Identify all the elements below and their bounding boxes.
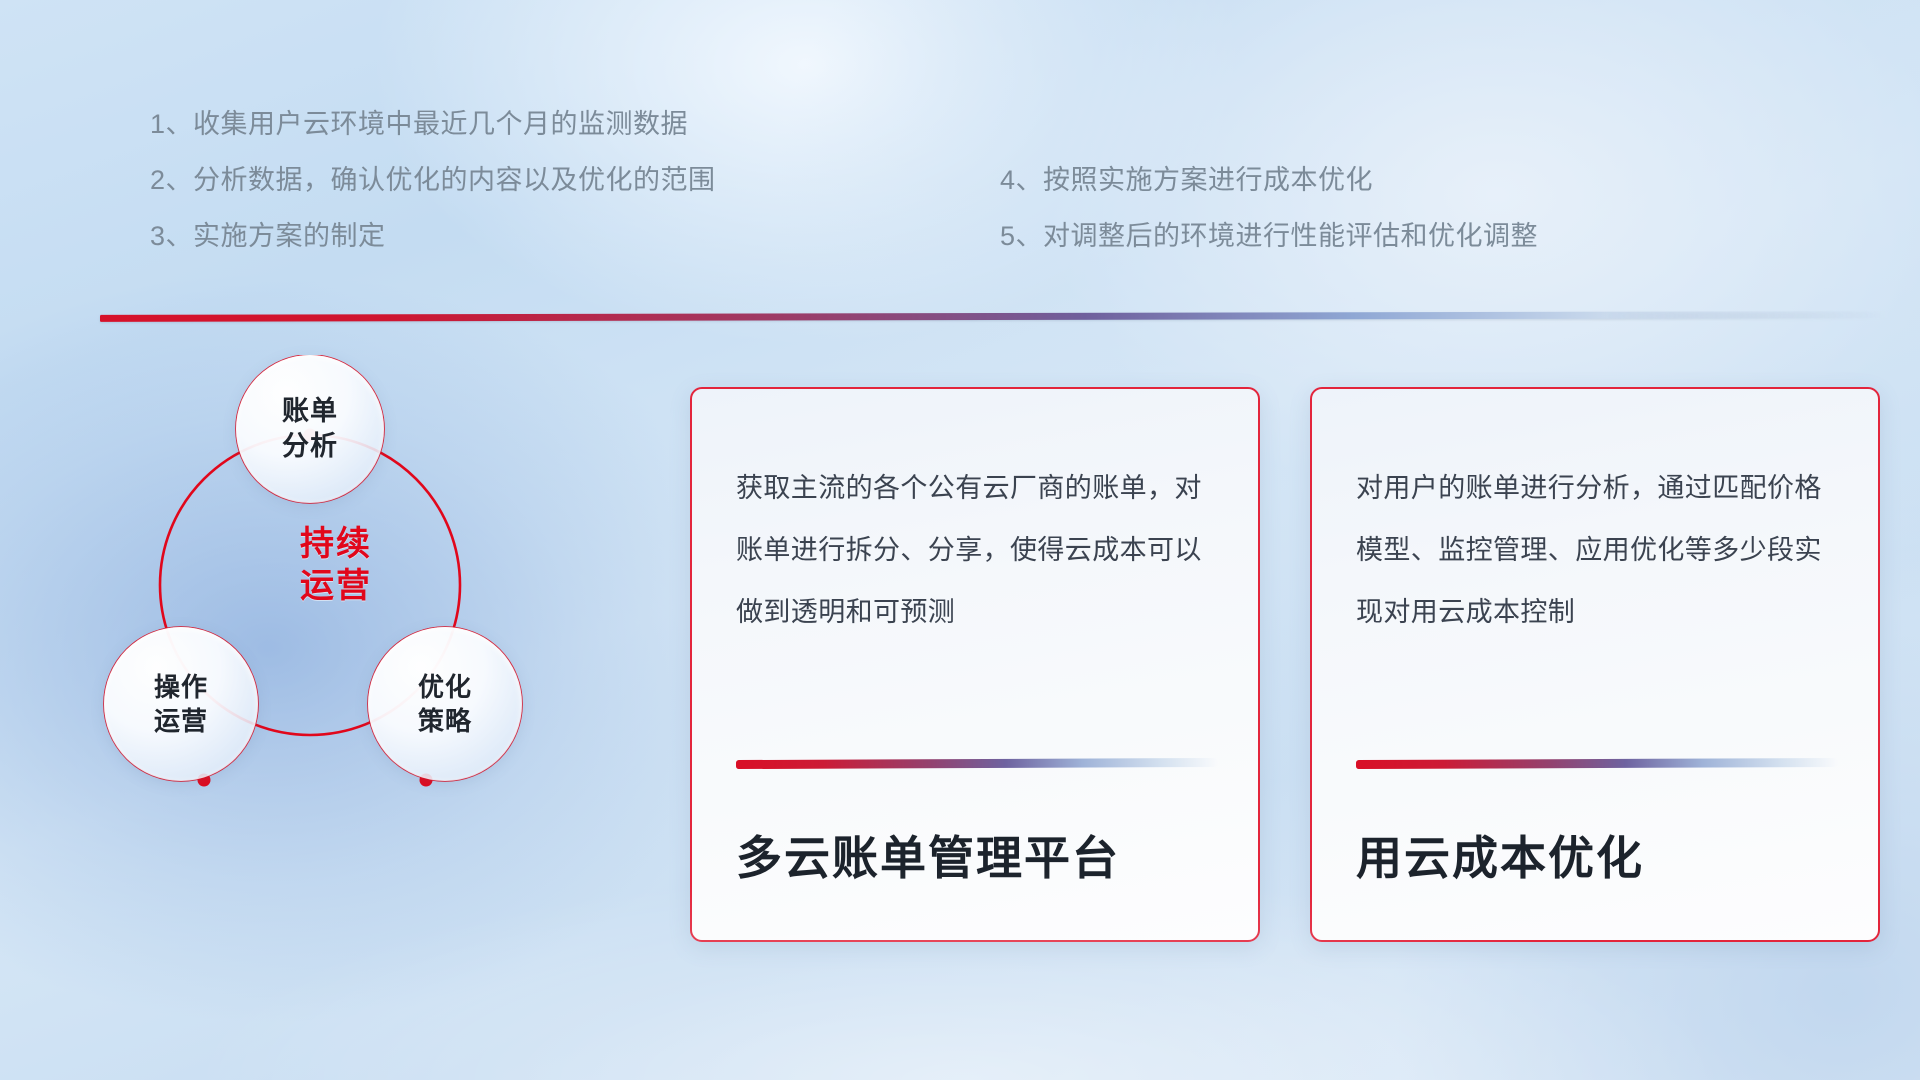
bullet-item-2: 2、分析数据，确认优化的内容以及优化的范围: [150, 152, 716, 208]
venn-bubble-operation[interactable]: 操作 运营: [104, 627, 258, 781]
venn-diagram: 账单 分析 操作 运营 优化 策略 持续 运营: [96, 355, 636, 915]
bullet-item-4: 4、按照实施方案进行成本优化: [1000, 152, 1538, 208]
venn-center-label: 持续 运营: [246, 523, 426, 607]
bullet-list-left: 1、收集用户云环境中最近几个月的监测数据 2、分析数据，确认优化的内容以及优化的…: [150, 96, 716, 264]
card-multicloud-billing[interactable]: 获取主流的各个公有云厂商的账单，对账单进行拆分、分享，使得云成本可以做到透明和可…: [690, 387, 1260, 942]
card-divider-rule: [1356, 758, 1838, 769]
venn-bubble-label-line2: 策略: [418, 704, 472, 738]
card-body-text: 获取主流的各个公有云厂商的账单，对账单进行拆分、分享，使得云成本可以做到透明和可…: [736, 457, 1214, 643]
venn-bubble-bill-analysis[interactable]: 账单 分析: [236, 355, 384, 503]
venn-bubble-label-line1: 操作: [154, 670, 208, 704]
card-body-text: 对用户的账单进行分析，通过匹配价格模型、监控管理、应用优化等多少段实现对用云成本…: [1356, 457, 1834, 643]
venn-center-line2: 运营: [246, 565, 426, 607]
venn-center-line1: 持续: [246, 523, 426, 565]
venn-bubble-label-line1: 账单: [282, 394, 338, 429]
card-divider-rule: [736, 758, 1218, 769]
venn-bubble-label-line2: 运营: [154, 704, 208, 738]
card-title: 用云成本优化: [1356, 822, 1644, 888]
venn-bubble-label-line2: 分析: [282, 429, 338, 464]
bullet-item-5: 5、对调整后的环境进行性能评估和优化调整: [1000, 208, 1538, 264]
venn-bubble-optimization-strategy[interactable]: 优化 策略: [368, 627, 522, 781]
bullet-list-right: 4、按照实施方案进行成本优化 5、对调整后的环境进行性能评估和优化调整: [1000, 152, 1538, 264]
section-divider-rule: [100, 311, 1890, 322]
card-title: 多云账单管理平台: [736, 822, 1120, 888]
venn-bubble-label-line1: 优化: [418, 670, 472, 704]
bullet-item-3: 3、实施方案的制定: [150, 208, 716, 264]
bullet-item-1: 1、收集用户云环境中最近几个月的监测数据: [150, 96, 716, 152]
card-cloud-cost-optimization[interactable]: 对用户的账单进行分析，通过匹配价格模型、监控管理、应用优化等多少段实现对用云成本…: [1310, 387, 1880, 942]
slide-canvas: 1、收集用户云环境中最近几个月的监测数据 2、分析数据，确认优化的内容以及优化的…: [0, 0, 1920, 1080]
